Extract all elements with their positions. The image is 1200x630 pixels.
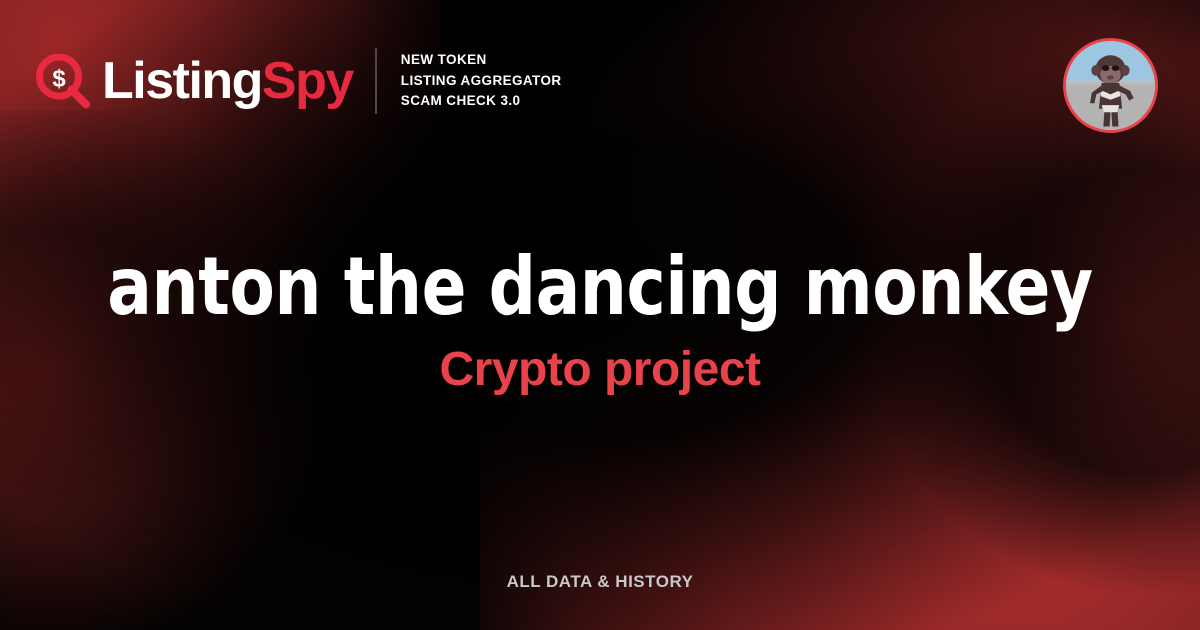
hero-section: anton the dancing monkey Crypto project	[0, 246, 1200, 394]
tagline-line-1: NEW TOKEN	[401, 50, 562, 71]
tagline-line-2: LISTING AGGREGATOR	[401, 71, 562, 92]
svg-text:$: $	[52, 66, 66, 93]
page-subtitle: Crypto project	[0, 346, 1200, 394]
brand-wordmark-spy: Spy	[262, 52, 353, 110]
project-avatar[interactable]	[1063, 38, 1158, 133]
monkey-avatar-icon	[1066, 41, 1155, 130]
tagline-line-3: SCAM CHECK 3.0	[401, 91, 562, 112]
header-divider	[375, 48, 377, 114]
footer-note: ALL DATA & HISTORY	[0, 572, 1200, 592]
page-title: anton the dancing monkey	[48, 246, 1152, 328]
brand-header: $ ListingSpy NEW TOKEN LISTING AGGREGATO…	[36, 48, 562, 114]
listingspy-share-banner: $ ListingSpy NEW TOKEN LISTING AGGREGATO…	[0, 0, 1200, 630]
brand-tagline: NEW TOKEN LISTING AGGREGATOR SCAM CHECK …	[401, 50, 562, 113]
magnifier-dollar-icon: $	[36, 54, 92, 110]
brand-wordmark[interactable]: ListingSpy	[102, 55, 353, 107]
brand-wordmark-listing: Listing	[102, 52, 262, 110]
